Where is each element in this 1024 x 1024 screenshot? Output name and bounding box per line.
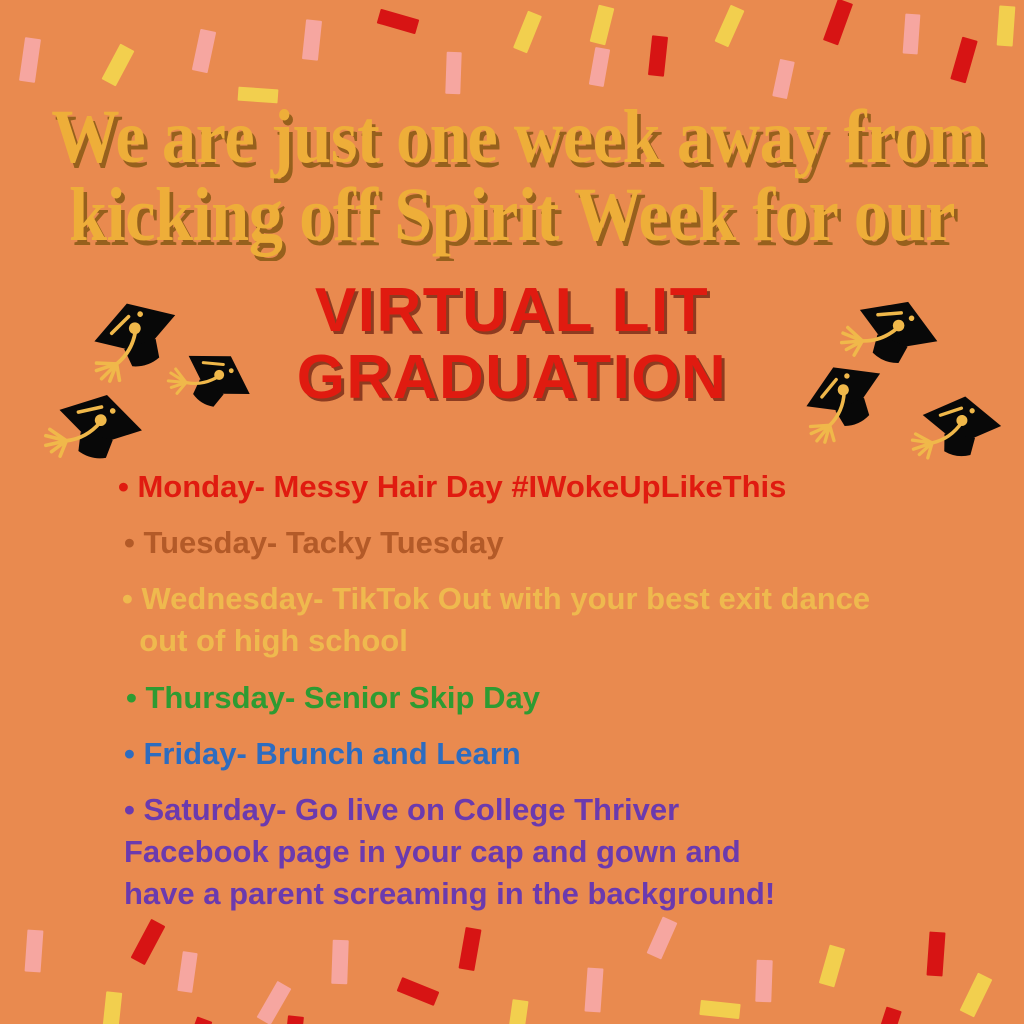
confetti-piece: [25, 929, 44, 972]
confetti-piece: [192, 29, 216, 73]
day-item-wednesday: • Wednesday- TikTok Out with your best e…: [0, 578, 1024, 662]
confetti-piece: [819, 945, 845, 988]
day-item-wednesday-line-2: out of high school: [122, 620, 1024, 662]
confetti-piece: [950, 37, 978, 84]
day-item-saturday-line-1: • Saturday- Go live on College Thriver: [124, 789, 1024, 831]
day-item-monday-line-1: • Monday- Messy Hair Day #IWokeUpLikeThi…: [118, 466, 1024, 508]
confetti-piece: [647, 916, 678, 959]
confetti-piece: [903, 14, 921, 55]
headline-line-2: kicking off Spirit Week for our: [51, 178, 973, 252]
confetti-piece: [960, 973, 993, 1018]
confetti-piece: [772, 59, 795, 99]
day-item-monday: • Monday- Messy Hair Day #IWokeUpLikeThi…: [0, 466, 1024, 508]
confetti-piece: [699, 1000, 740, 1019]
day-item-friday-line-1: • Friday- Brunch and Learn: [124, 733, 1024, 775]
confetti-piece: [19, 37, 41, 83]
confetti-piece: [445, 52, 461, 94]
headline-line-1: We are just one week away from: [51, 100, 973, 174]
day-item-tuesday-line-1: • Tuesday- Tacky Tuesday: [124, 522, 1024, 564]
confetti-piece: [590, 5, 615, 46]
confetti-piece: [184, 1016, 213, 1024]
confetti-piece: [648, 35, 668, 76]
confetti-piece: [377, 9, 420, 34]
confetti-piece: [997, 5, 1016, 46]
spirit-week-poster: We are just one week away from kicking o…: [0, 0, 1024, 1024]
confetti-piece: [131, 919, 166, 965]
day-item-tuesday: • Tuesday- Tacky Tuesday: [0, 522, 1024, 564]
confetti-piece: [102, 991, 123, 1024]
main-title-line-2: GRADUATION: [0, 345, 1024, 412]
confetti-piece: [302, 19, 322, 60]
confetti-piece: [589, 47, 610, 87]
day-item-saturday-line-3: have a parent screaming in the backgroun…: [124, 873, 1024, 915]
confetti-piece: [507, 999, 528, 1024]
day-item-saturday: • Saturday- Go live on College ThriverFa…: [0, 789, 1024, 915]
spirit-week-day-list: • Monday- Messy Hair Day #IWokeUpLikeThi…: [0, 466, 1024, 915]
confetti-piece: [397, 977, 440, 1006]
confetti-piece: [755, 960, 772, 1003]
confetti-piece: [874, 1007, 902, 1024]
confetti-piece: [257, 981, 292, 1024]
day-item-thursday: • Thursday- Senior Skip Day: [0, 677, 1024, 719]
confetti-piece: [331, 940, 349, 985]
headline: We are just one week away from kicking o…: [0, 100, 1024, 253]
confetti-piece: [513, 11, 542, 54]
day-item-wednesday-line-1: • Wednesday- TikTok Out with your best e…: [122, 578, 1024, 620]
day-item-saturday-line-2: Facebook page in your cap and gown and: [124, 831, 1024, 873]
confetti-piece: [458, 927, 481, 971]
confetti-piece: [177, 951, 197, 993]
main-title-line-1: VIRTUAL LIT: [0, 278, 1024, 345]
day-item-thursday-line-1: • Thursday- Senior Skip Day: [126, 677, 1024, 719]
day-item-friday: • Friday- Brunch and Learn: [0, 733, 1024, 775]
confetti-piece: [102, 44, 135, 87]
confetti-piece: [926, 931, 945, 976]
confetti-piece: [284, 1015, 304, 1024]
confetti-piece: [823, 0, 853, 45]
main-title: VIRTUAL LIT GRADUATION: [0, 278, 1024, 412]
confetti-piece: [715, 5, 745, 48]
confetti-piece: [584, 967, 603, 1012]
